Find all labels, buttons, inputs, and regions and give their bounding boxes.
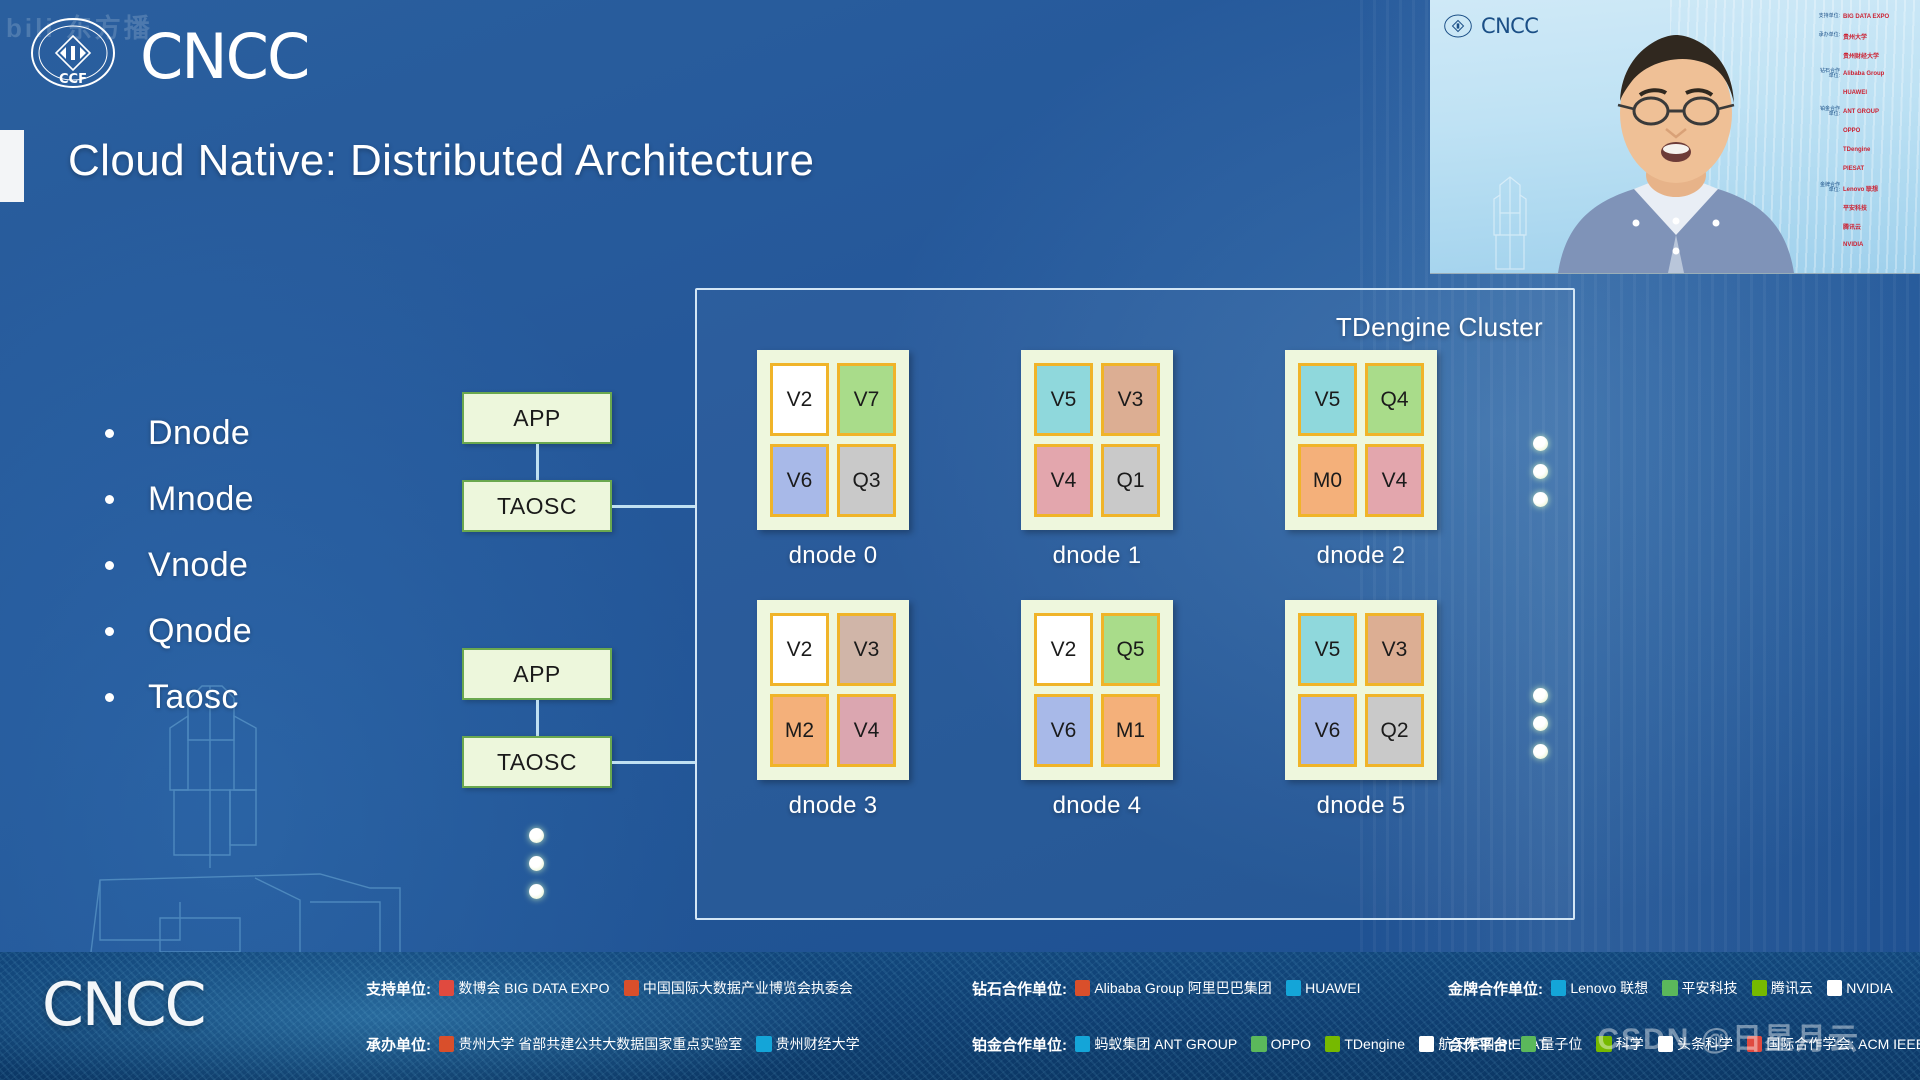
dnode-card: V5Q4M0V4 xyxy=(1285,350,1437,530)
dnode-5[interactable]: V5V3V6Q2dnode 5 xyxy=(1285,600,1437,820)
page-title: Cloud Native: Distributed Architecture xyxy=(68,136,814,186)
sponsor-logo: 贵州财经大学 xyxy=(756,1034,859,1054)
vnode-label: V3 xyxy=(854,638,880,662)
app-box-0[interactable]: APP xyxy=(462,392,612,444)
video-sponsor-tag: 支持单位: xyxy=(1816,14,1840,20)
video-sponsor-logo: BIG DATA EXPO xyxy=(1843,14,1889,20)
vnode-label: Q1 xyxy=(1116,469,1144,493)
vnode-label: Q3 xyxy=(852,469,880,493)
vnode-cell[interactable]: Q2 xyxy=(1365,694,1424,767)
video-sponsor-row: 平安科技 xyxy=(1816,200,1916,214)
bullet-dot-icon xyxy=(105,693,114,702)
vnode-cell[interactable]: V3 xyxy=(1365,613,1424,686)
sponsor-logo-mark xyxy=(1286,980,1301,996)
sponsor-logo: HUAWEI xyxy=(1286,980,1361,996)
vnode-label: M1 xyxy=(1116,719,1145,743)
taosc-label: TAOSC xyxy=(497,493,577,520)
taosc-box-0[interactable]: TAOSC xyxy=(462,480,612,532)
dnode-4[interactable]: V2Q5V6M1dnode 4 xyxy=(1021,600,1173,820)
ellipsis-dots-row1 xyxy=(1533,436,1548,507)
footer-sponsor-tag: 金牌合作单位: xyxy=(1448,978,1543,999)
dnode-card: V5V3V4Q1 xyxy=(1021,350,1173,530)
footer-sponsor-row: 金牌合作单位: Lenovo 联想 平安科技 腾讯云 NVIDIA xyxy=(1448,960,1920,1016)
ellipsis-dot xyxy=(1533,464,1548,479)
dnode-label: dnode 5 xyxy=(1285,792,1437,820)
dnode-card: V2Q5V6M1 xyxy=(1021,600,1173,780)
dnode-3[interactable]: V2V3M2V4dnode 3 xyxy=(757,600,909,820)
ellipsis-dot xyxy=(529,884,544,899)
video-sponsor-row: PIESAT xyxy=(1816,162,1916,176)
vnode-cell[interactable]: Q3 xyxy=(837,444,896,517)
video-sponsor-row: OPPO xyxy=(1816,124,1916,138)
vnode-label: Q5 xyxy=(1116,638,1144,662)
bullet-label: Dnode xyxy=(148,414,250,453)
cluster-label: TDengine Cluster xyxy=(1336,312,1543,343)
dnode-label: dnode 1 xyxy=(1021,542,1173,570)
video-sponsor-logo: Lenovo 联想 xyxy=(1843,184,1878,193)
dnode-label: dnode 3 xyxy=(757,792,909,820)
vnode-label: V2 xyxy=(1051,638,1077,662)
sponsor-logo-mark xyxy=(1325,1036,1340,1052)
footer-sponsor-row: 支持单位: 数博会 BIG DATA EXPO 中国国际大数据产业博览会执委会 xyxy=(366,960,874,1016)
video-sponsor-tag: 承办单位: xyxy=(1816,33,1840,39)
dnode-card: V2V7V6Q3 xyxy=(757,350,909,530)
speaker-video-panel[interactable]: CNCC 支持单位:BIG DATA EXPO承办单位:贵州大学贵州财经大学钻石… xyxy=(1430,0,1920,274)
sponsor-logo-text: 数博会 BIG DATA EXPO xyxy=(458,978,609,998)
footer-sponsor-tag: 钻石合作单位: xyxy=(972,978,1067,999)
vnode-label: V3 xyxy=(1382,638,1408,662)
video-sponsor-row: 腾讯云 xyxy=(1816,219,1916,233)
bullet-item-qnode: Qnode xyxy=(105,598,485,664)
sponsor-logo: 量子位 xyxy=(1521,1034,1582,1054)
sponsor-logo: OPPO xyxy=(1251,1036,1311,1052)
ellipsis-dot xyxy=(1533,716,1548,731)
footer-sponsor-tag: 支持单位: xyxy=(366,978,431,999)
sponsor-logo-mark xyxy=(1419,1036,1434,1052)
app-label: APP xyxy=(513,405,561,432)
ccf-emblem-icon: CCF xyxy=(30,16,116,90)
sponsor-logo-text: 中国国际大数据产业博览会执委会 xyxy=(643,978,853,998)
sponsor-logo-text: 贵州财经大学 xyxy=(776,1034,860,1054)
ccf-emblem-icon-small xyxy=(1444,14,1472,38)
vnode-label: V4 xyxy=(854,719,880,743)
app-taosc-connector-0 xyxy=(536,444,539,480)
vnode-label: V2 xyxy=(787,638,813,662)
vnode-cell[interactable]: V3 xyxy=(837,613,896,686)
sponsor-logo-text: 平安科技 xyxy=(1682,978,1738,998)
bullet-dot-icon xyxy=(105,561,114,570)
footer-sponsor-row: 承办单位: 贵州大学 省部共建公共大数据国家重点实验室 贵州财经大学 xyxy=(366,1016,874,1072)
sponsor-logo-mark xyxy=(1251,1036,1266,1052)
dnode-0[interactable]: V2V7V6Q3dnode 0 xyxy=(757,350,909,570)
video-sponsor-logo: NVIDIA xyxy=(1843,242,1863,248)
vnode-cell[interactable]: V4 xyxy=(1034,444,1093,517)
ellipsis-dot xyxy=(529,828,544,843)
dnode-2[interactable]: V5Q4M0V4dnode 2 xyxy=(1285,350,1437,570)
sponsor-logo-text: TDengine xyxy=(1344,1036,1405,1052)
vnode-cell[interactable]: V5 xyxy=(1034,363,1093,436)
sponsor-logo-mark xyxy=(1827,980,1842,996)
sponsor-logo: 贵州大学 省部共建公共大数据国家重点实验室 xyxy=(439,1034,742,1054)
ellipsis-dots-row2 xyxy=(1533,688,1548,759)
sponsor-logo-text: OPPO xyxy=(1271,1036,1311,1052)
sponsor-logo-mark xyxy=(1075,980,1090,996)
tdengine-cluster-frame: TDengine Cluster V2V7V6Q3dnode 0V5V3V4Q1… xyxy=(695,288,1575,920)
taosc-box-1[interactable]: TAOSC xyxy=(462,736,612,788)
video-sponsor-row: 钻石合作单位:Alibaba Group xyxy=(1816,67,1916,81)
sponsor-logo-mark xyxy=(624,980,639,996)
bullet-label: Qnode xyxy=(148,612,252,651)
vnode-cell[interactable]: M0 xyxy=(1298,444,1357,517)
sponsor-logo: 数博会 BIG DATA EXPO xyxy=(439,978,610,998)
video-sponsor-row: NVIDIA xyxy=(1816,238,1916,252)
video-sponsor-row: 承办单位:贵州大学 xyxy=(1816,29,1916,43)
vnode-label: V7 xyxy=(854,388,880,412)
sponsor-logo: NVIDIA xyxy=(1827,980,1893,996)
csdn-watermark: CSDN @日星月云 xyxy=(1597,1014,1860,1058)
taosc-cluster-connector-0 xyxy=(612,505,697,508)
bullet-item-mnode: Mnode xyxy=(105,466,485,532)
video-sponsor-logo: PIESAT xyxy=(1843,166,1864,172)
vnode-cell[interactable]: V6 xyxy=(1034,694,1093,767)
speaker-portrait xyxy=(1548,25,1803,273)
vnode-label: V6 xyxy=(1315,719,1341,743)
sponsor-logo-mark xyxy=(439,980,454,996)
bullet-item-dnode: Dnode xyxy=(105,400,485,466)
title-accent-tab xyxy=(0,130,24,202)
video-sponsor-row: 金牌合作单位:Lenovo 联想 xyxy=(1816,181,1916,195)
sponsor-logo: TDengine xyxy=(1325,1036,1405,1052)
slide-header: bili 东方播 CCF CNCC xyxy=(0,0,1100,115)
sponsor-logo-text: 贵州大学 省部共建公共大数据国家重点实验室 xyxy=(458,1034,742,1054)
sponsor-logo-text: HUAWEI xyxy=(1305,980,1360,996)
ellipsis-dot xyxy=(1533,744,1548,759)
video-sponsor-tag: 金牌合作单位: xyxy=(1816,183,1840,194)
bullet-list: DnodeMnodeVnodeQnodeTaosc xyxy=(105,400,485,730)
sponsor-logo: Alibaba Group 阿里巴巴集团 xyxy=(1075,978,1272,998)
sponsor-logo: 腾讯云 xyxy=(1752,978,1813,998)
sponsor-logo-text: Lenovo 联想 xyxy=(1570,978,1648,998)
sponsor-logo-mark xyxy=(1075,1036,1090,1052)
video-sponsor-logo: 贵州大学 xyxy=(1843,32,1867,41)
taosc-label: TAOSC xyxy=(497,749,577,776)
sponsor-logo-text: NVIDIA xyxy=(1846,980,1893,996)
dnode-label: dnode 2 xyxy=(1285,542,1437,570)
vnode-label: Q4 xyxy=(1380,388,1408,412)
sponsor-footer: CNCC 支持单位: 数博会 BIG DATA EXPO 中国国际大数据产业博览… xyxy=(0,952,1920,1080)
video-sponsor-row: 铂金合作单位:ANT GROUP xyxy=(1816,105,1916,119)
ellipsis-dots-clients xyxy=(529,828,544,899)
bullet-dot-icon xyxy=(105,495,114,504)
vnode-cell[interactable]: V2 xyxy=(1034,613,1093,686)
sponsor-logo: 平安科技 xyxy=(1662,978,1737,998)
vnode-cell[interactable]: V7 xyxy=(837,363,896,436)
video-sponsor-logo: Alibaba Group xyxy=(1843,71,1884,77)
bullet-item-taosc: Taosc xyxy=(105,664,485,730)
dnode-card: V2V3M2V4 xyxy=(757,600,909,780)
vnode-label: M0 xyxy=(1313,469,1342,493)
vnode-cell[interactable]: Q1 xyxy=(1101,444,1160,517)
video-sponsor-logo: TDengine xyxy=(1843,147,1870,153)
footer-sponsor-tag: 合作平台: xyxy=(1448,1034,1513,1055)
dnode-label: dnode 4 xyxy=(1021,792,1173,820)
vnode-cell[interactable]: V6 xyxy=(770,444,829,517)
ellipsis-dot xyxy=(1533,688,1548,703)
video-sponsor-row: TDengine xyxy=(1816,143,1916,157)
vnode-cell[interactable]: V4 xyxy=(837,694,896,767)
ellipsis-dot xyxy=(1533,492,1548,507)
video-sponsor-tag: 铂金合作单位: xyxy=(1816,107,1840,118)
vnode-label: V2 xyxy=(787,388,813,412)
vnode-label: V5 xyxy=(1315,638,1341,662)
video-sponsor-logo: 平安科技 xyxy=(1843,203,1867,212)
footer-sponsor-tag: 承办单位: xyxy=(366,1034,431,1055)
vnode-cell[interactable]: M1 xyxy=(1101,694,1160,767)
bullet-label: Taosc xyxy=(148,678,239,717)
sponsor-logo-mark xyxy=(1752,980,1767,996)
bullet-item-vnode: Vnode xyxy=(105,532,485,598)
cncc-logo-text: CNCC xyxy=(140,20,308,93)
dnode-label: dnode 0 xyxy=(757,542,909,570)
app-taosc-connector-1 xyxy=(536,700,539,736)
video-cncc-text: CNCC xyxy=(1481,14,1538,38)
app-label: APP xyxy=(513,661,561,688)
bullet-label: Vnode xyxy=(148,546,248,585)
svg-text:CCF: CCF xyxy=(59,72,87,87)
video-sponsor-row: HUAWEI xyxy=(1816,86,1916,100)
vnode-cell[interactable]: V2 xyxy=(770,363,829,436)
vnode-label: M2 xyxy=(785,719,814,743)
video-sponsor-logo: HUAWEI xyxy=(1843,90,1867,96)
sponsor-logo-text: 量子位 xyxy=(1540,1034,1582,1054)
vnode-cell[interactable]: M2 xyxy=(770,694,829,767)
vnode-cell[interactable]: V4 xyxy=(1365,444,1424,517)
video-tower-artwork xyxy=(1470,173,1550,273)
video-sponsor-column: 支持单位:BIG DATA EXPO承办单位:贵州大学贵州财经大学钻石合作单位:… xyxy=(1816,10,1916,257)
video-sponsor-logo: ANT GROUP xyxy=(1843,109,1879,115)
vnode-cell[interactable]: V6 xyxy=(1298,694,1357,767)
vnode-label: Q2 xyxy=(1380,719,1408,743)
sponsor-logo-text: 腾讯云 xyxy=(1771,978,1813,998)
sponsor-logo: 中国国际大数据产业博览会执委会 xyxy=(624,978,853,998)
bullet-dot-icon xyxy=(105,429,114,438)
sponsor-logo-mark xyxy=(439,1036,454,1052)
vnode-label: V5 xyxy=(1051,388,1077,412)
sponsor-logo: Lenovo 联想 xyxy=(1551,978,1648,998)
ellipsis-dot xyxy=(1533,436,1548,451)
sponsor-logo-mark xyxy=(1551,980,1566,996)
video-sponsor-row: 支持单位:BIG DATA EXPO xyxy=(1816,10,1916,24)
bullet-label: Mnode xyxy=(148,480,254,519)
footer-sponsor-tag: 铂金合作单位: xyxy=(972,1034,1067,1055)
bullet-dot-icon xyxy=(105,627,114,636)
vnode-label: V3 xyxy=(1118,388,1144,412)
video-sponsor-logo: 腾讯云 xyxy=(1843,222,1861,231)
sponsor-logo: 蚂蚁集团 ANT GROUP xyxy=(1075,1034,1237,1054)
sponsor-logo-mark xyxy=(756,1036,771,1052)
footer-cncc-logo: CNCC xyxy=(42,970,205,1040)
dnode-card: V5V3V6Q2 xyxy=(1285,600,1437,780)
dnode-1[interactable]: V5V3V4Q1dnode 1 xyxy=(1021,350,1173,570)
vnode-cell[interactable]: Q5 xyxy=(1101,613,1160,686)
ellipsis-dot xyxy=(529,856,544,871)
vnode-label: V6 xyxy=(1051,719,1077,743)
sponsor-logo-mark xyxy=(1662,980,1677,996)
app-box-1[interactable]: APP xyxy=(462,648,612,700)
vnode-cell[interactable]: V3 xyxy=(1101,363,1160,436)
vnode-cell[interactable]: V5 xyxy=(1298,613,1357,686)
video-cncc-logo: CNCC xyxy=(1444,14,1538,38)
vnode-cell[interactable]: V5 xyxy=(1298,363,1357,436)
vnode-label: V4 xyxy=(1051,469,1077,493)
vnode-cell[interactable]: V2 xyxy=(770,613,829,686)
sponsor-logo-text: 蚂蚁集团 ANT GROUP xyxy=(1094,1034,1237,1054)
vnode-label: V4 xyxy=(1382,469,1408,493)
video-sponsor-logo: OPPO xyxy=(1843,128,1860,134)
video-sponsor-tag: 钻石合作单位: xyxy=(1816,69,1840,80)
footer-group-0: 支持单位: 数博会 BIG DATA EXPO 中国国际大数据产业博览会执委会承… xyxy=(366,960,874,1072)
vnode-cell[interactable]: Q4 xyxy=(1365,363,1424,436)
sponsor-logo-text: Alibaba Group 阿里巴巴集团 xyxy=(1094,978,1271,998)
vnode-label: V6 xyxy=(787,469,813,493)
vnode-label: V5 xyxy=(1315,388,1341,412)
video-sponsor-row: 贵州财经大学 xyxy=(1816,48,1916,62)
taosc-cluster-connector-1 xyxy=(612,761,697,764)
sponsor-logo-mark xyxy=(1521,1036,1536,1052)
video-sponsor-logo: 贵州财经大学 xyxy=(1843,51,1879,60)
